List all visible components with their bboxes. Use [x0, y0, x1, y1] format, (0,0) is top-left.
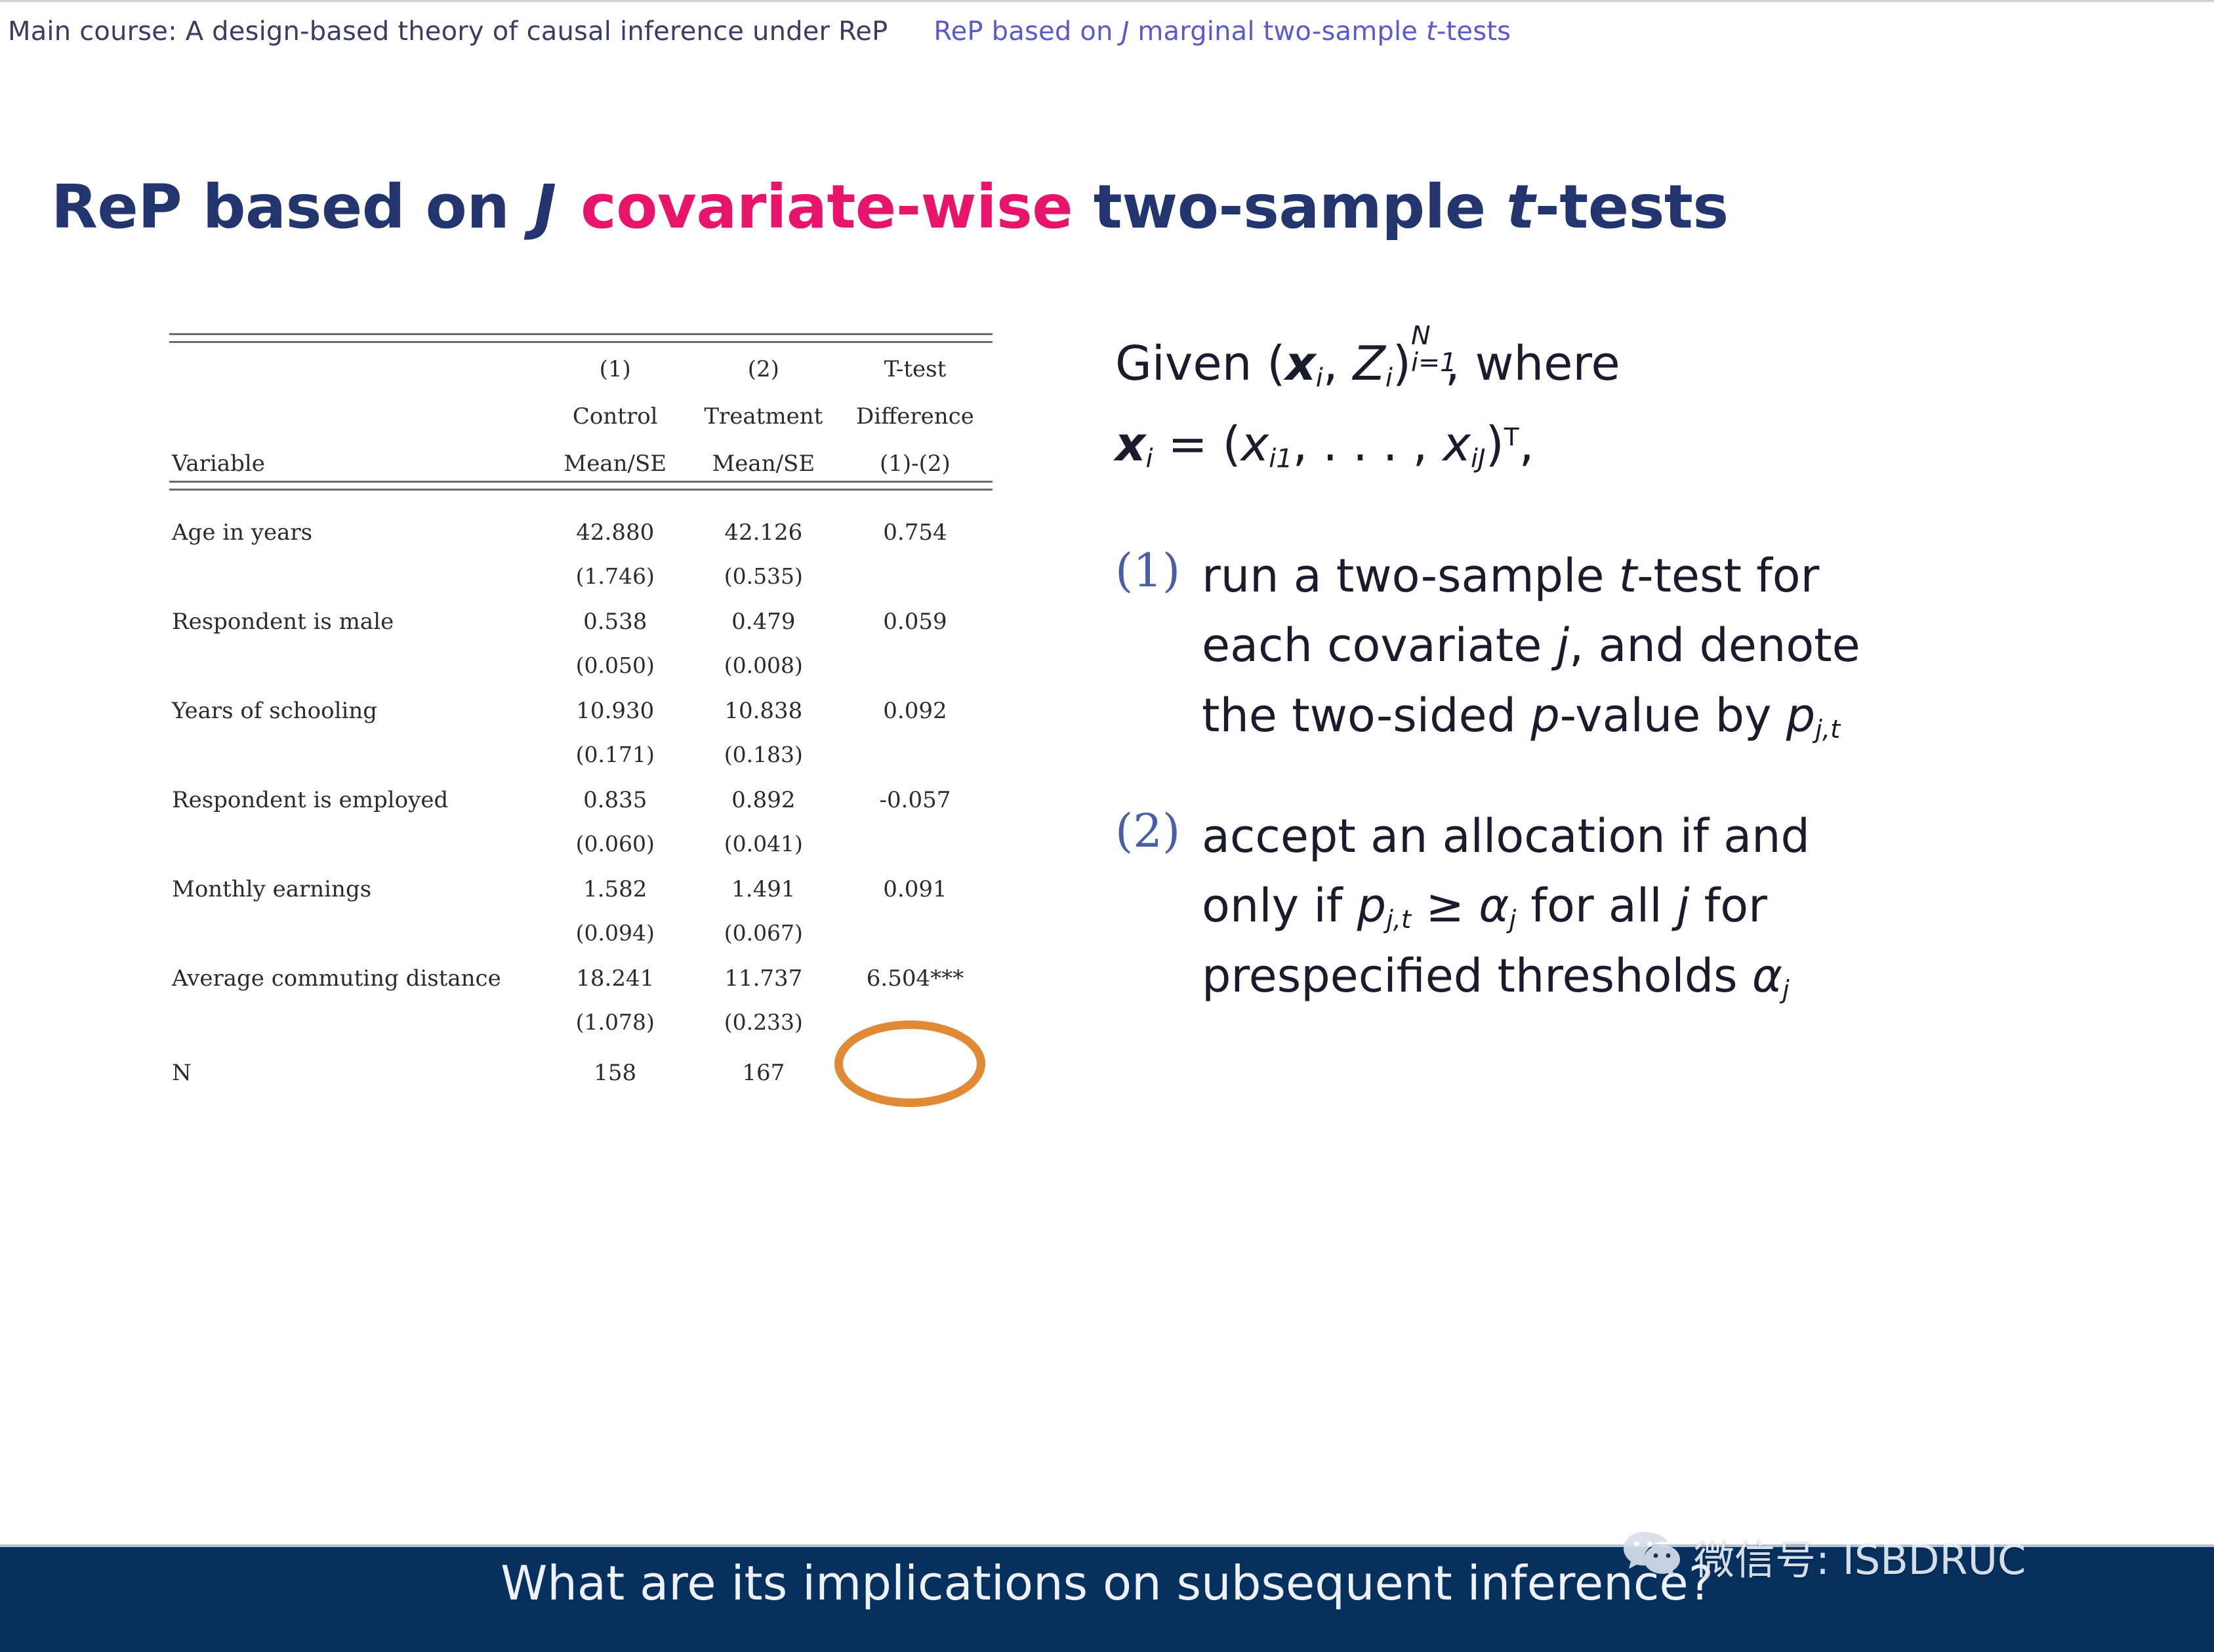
row-difference-se	[838, 546, 993, 589]
header-cell-col1: (1)	[541, 343, 689, 382]
row-control-se: (0.060)	[541, 813, 689, 856]
caption-text: What are its implications on subsequent …	[0, 1556, 2214, 1611]
table-row: Respondent is male0.5380.4790.059	[169, 589, 993, 635]
breadcrumb-navbar: Main course: A design-based theory of ca…	[0, 0, 2214, 60]
step1-l2-a: each covariate	[1202, 618, 1557, 672]
step-2-line-1: accept an allocation if and	[1202, 801, 1810, 871]
row-treatment-se: (0.183)	[689, 724, 838, 767]
breadcrumb-current-section[interactable]: ReP based on J marginal two-sample t-tes…	[933, 16, 1511, 47]
table-header-row-units: Variable Mean/SE Mean/SE (1)-(2)	[169, 430, 993, 477]
row-treatment-mean: 42.126	[689, 500, 838, 546]
xi-close-paren: )	[1486, 416, 1504, 472]
row-control-mean: 42.880	[541, 500, 689, 546]
row-difference-se	[838, 635, 993, 678]
row-se-blank	[169, 902, 541, 946]
table-top-rule	[169, 333, 993, 343]
header-group-blank	[169, 382, 541, 430]
row-difference-se	[838, 992, 993, 1035]
xi-vector-symbol: x	[1115, 416, 1145, 472]
step-1-line-2: each covariate j, and denote	[1202, 611, 1860, 680]
row-control-mean: 0.538	[541, 589, 689, 635]
header-unit-control: Mean/SE	[541, 430, 689, 477]
step2-alpha-symbol: α	[1479, 879, 1509, 933]
given-z-subscript: i	[1385, 363, 1393, 393]
row-n-treatment: 167	[689, 1035, 838, 1086]
table-row-se: (1.746)(0.535)	[169, 546, 993, 589]
table-row-se: (0.060)(0.041)	[169, 813, 993, 856]
page-title: ReP based on J covariate-wise two-sample…	[51, 172, 1729, 242]
row-se-blank	[169, 992, 541, 1035]
breadcrumb-sub-mid: marginal two-sample	[1138, 16, 1418, 47]
step1-t-symbol: t	[1619, 549, 1637, 603]
table-header-row-groups: Control Treatment Difference	[169, 382, 993, 430]
step1-pvalue-symbol: p	[1786, 689, 1815, 742]
step-2-line-3: prespecified thresholds αj	[1202, 941, 1810, 1011]
xi-vector-subscript: i	[1145, 444, 1153, 474]
xiJ-subscript: iJ	[1471, 444, 1486, 474]
step1-l1-a: run a two-sample	[1202, 549, 1619, 603]
given-formula-block: Given (xi, Zi)Ni=1, where xi = (xi1, . .…	[1115, 328, 2139, 481]
row-treatment-se: (0.535)	[689, 546, 838, 589]
step1-l1-b: -test for	[1637, 549, 1819, 603]
given-comma: ,	[1323, 336, 1353, 391]
step2-threshold-alpha: α	[1752, 949, 1782, 1003]
table-row-se: (0.171)(0.183)	[169, 724, 993, 767]
row-variable-name: Monthly earnings	[169, 856, 541, 902]
step2-threshold-alpha-subscript: j	[1782, 975, 1790, 1005]
title-part2: two-sample	[1094, 172, 1486, 242]
breadcrumb-sub-post: -tests	[1437, 16, 1511, 47]
balance-table-body: Age in years42.88042.1260.754(1.746)(0.5…	[169, 500, 993, 1086]
row-treatment-mean: 0.892	[689, 767, 838, 813]
row-difference-se	[838, 902, 993, 946]
row-control-se: (1.746)	[541, 546, 689, 589]
xi-tail-comma: ,	[1519, 416, 1534, 472]
title-part3: -tests	[1535, 172, 1729, 242]
row-difference: 0.754	[838, 500, 993, 546]
row-treatment-mean: 1.491	[689, 856, 838, 902]
table-header-row-numbers: (1) (2) T-test	[169, 343, 993, 382]
breadcrumb-main-course[interactable]: Main course: A design-based theory of ca…	[8, 16, 888, 47]
balance-table: (1) (2) T-test Control Treatment Differe…	[169, 333, 993, 1086]
row-variable-name: Age in years	[169, 500, 541, 546]
table-row-se: (0.050)(0.008)	[169, 635, 993, 678]
header-group-treatment: Treatment	[689, 382, 838, 430]
row-n-label: N	[169, 1035, 541, 1086]
row-se-blank	[169, 546, 541, 589]
row-treatment-mean: 10.838	[689, 678, 838, 724]
row-se-blank	[169, 813, 541, 856]
header-unit-difference: (1)-(2)	[838, 430, 993, 477]
row-variable-name: Average commuting distance	[169, 946, 541, 992]
row-variable-name: Years of schooling	[169, 678, 541, 724]
title-j-symbol: J	[530, 172, 560, 242]
given-lead: Given (	[1115, 336, 1285, 391]
xi-equals: = (	[1153, 416, 1240, 472]
row-difference: 0.092	[838, 678, 993, 724]
transpose-superscript: T	[1504, 422, 1519, 451]
xi1-subscript: i1	[1269, 444, 1292, 474]
row-se-blank	[169, 724, 541, 767]
given-tail: , where	[1445, 336, 1620, 391]
header-cell-ttest: T-test	[838, 343, 993, 382]
row-difference: 0.091	[838, 856, 993, 902]
step-2-line-2: only if pj,t ≥ αj for all j for	[1202, 871, 1810, 940]
given-close-paren: )	[1393, 336, 1411, 391]
step-1-body: run a two-sample t-test for each covaria…	[1202, 541, 1860, 750]
row-treatment-mean: 11.737	[689, 946, 838, 992]
step1-p-symbol: p	[1530, 689, 1559, 742]
row-difference: 6.504***	[838, 946, 993, 992]
breadcrumb-sub-j: J	[1121, 16, 1129, 47]
xi1-symbol: x	[1241, 416, 1269, 472]
row-control-mean: 18.241	[541, 946, 689, 992]
xi-ellipsis: , . . . ,	[1292, 416, 1443, 472]
row-difference: 0.059	[838, 589, 993, 635]
step-2-marker: (2)	[1115, 801, 1202, 1011]
step1-l2-b: , and denote	[1569, 618, 1860, 672]
given-formula-line2: xi = (xi1, . . . , xiJ)T,	[1115, 409, 2139, 480]
breadcrumb-sub-t: t	[1426, 16, 1437, 47]
row-n-control: 158	[541, 1035, 689, 1086]
given-z-symbol: Z	[1353, 336, 1385, 391]
row-control-mean: 1.582	[541, 856, 689, 902]
row-control-mean: 0.835	[541, 767, 689, 813]
step-2-body: accept an allocation if and only if pj,t…	[1202, 801, 1810, 1011]
step1-l3-b: -value by	[1560, 689, 1786, 742]
given-x-subscript: i	[1316, 363, 1323, 393]
given-subscript-i1: i=1	[1411, 343, 1456, 382]
row-control-se: (0.050)	[541, 635, 689, 678]
step2-alpha-subscript: j	[1509, 905, 1516, 935]
step2-ge-operator: ≥	[1411, 879, 1479, 933]
header-unit-treatment: Mean/SE	[689, 430, 838, 477]
step2-p-subscript: j,t	[1386, 905, 1411, 935]
table-row: Age in years42.88042.1260.754	[169, 500, 993, 546]
row-variable-name: Respondent is male	[169, 589, 541, 635]
table-row-se: (0.094)(0.067)	[169, 902, 993, 946]
row-n-difference	[838, 1035, 993, 1086]
step-1-line-3: the two-sided p-value by pj,t	[1202, 681, 1860, 750]
numbered-steps-list: (1) run a two-sample t-test for each cov…	[1115, 541, 2139, 1011]
row-difference-se	[838, 724, 993, 767]
row-treatment-se: (0.008)	[689, 635, 838, 678]
step2-j-symbol: j	[1677, 879, 1689, 933]
step2-l2-c: for	[1689, 879, 1767, 933]
step1-j-symbol: j	[1557, 618, 1569, 672]
breadcrumb-sub-pre: ReP based on	[933, 16, 1113, 47]
title-t-symbol: t	[1506, 172, 1534, 242]
step1-l3-a: the two-sided	[1202, 689, 1530, 742]
explanation-panel: Given (xi, Zi)Ni=1, where xi = (xi1, . .…	[1115, 328, 2139, 1062]
header-group-difference: Difference	[838, 382, 993, 430]
balance-table-grid: (1) (2) T-test Control Treatment Differe…	[169, 343, 993, 477]
header-cell-blank	[169, 343, 541, 382]
row-treatment-se: (0.041)	[689, 813, 838, 856]
row-treatment-se: (0.233)	[689, 992, 838, 1035]
step1-pvalue-subscript: j,t	[1815, 715, 1840, 744]
row-difference-se	[838, 813, 993, 856]
row-control-mean: 10.930	[541, 678, 689, 724]
step2-l2-a: only if	[1202, 879, 1357, 933]
given-limits: Ni=1	[1411, 332, 1445, 380]
row-se-blank	[169, 635, 541, 678]
step-1-marker: (1)	[1115, 541, 1202, 750]
row-control-se: (0.094)	[541, 902, 689, 946]
row-control-se: (1.078)	[541, 992, 689, 1035]
header-group-control: Control	[541, 382, 689, 430]
row-treatment-se: (0.067)	[689, 902, 838, 946]
row-difference: -0.057	[838, 767, 993, 813]
step-1-line-1: run a two-sample t-test for	[1202, 541, 1860, 611]
table-row: Monthly earnings1.5821.4910.091	[169, 856, 993, 902]
row-variable-name: Respondent is employed	[169, 767, 541, 813]
table-row: Average commuting distance18.24111.7376.…	[169, 946, 993, 992]
given-x-symbol: x	[1285, 336, 1315, 391]
table-row: Respondent is employed0.8350.892-0.057	[169, 767, 993, 813]
table-row: Years of schooling10.93010.8380.092	[169, 678, 993, 724]
row-treatment-mean: 0.479	[689, 589, 838, 635]
title-accent-phrase: covariate-wise	[581, 172, 1073, 242]
list-item-step-2: (2) accept an allocation if and only if …	[1115, 801, 2139, 1011]
step2-p-symbol: p	[1357, 879, 1386, 933]
header-cell-col2: (2)	[689, 343, 838, 382]
xiJ-symbol: x	[1443, 416, 1471, 472]
header-unit-variable: Variable	[169, 430, 541, 477]
step2-l3-a: prespecified thresholds	[1202, 949, 1752, 1003]
given-formula-line1: Given (xi, Zi)Ni=1, where	[1115, 328, 2139, 399]
table-row-se: (1.078)(0.233)	[169, 992, 993, 1035]
step2-l2-b: for all	[1516, 879, 1677, 933]
title-part1: ReP based on	[51, 172, 509, 242]
list-item-step-1: (1) run a two-sample t-test for each cov…	[1115, 541, 2139, 750]
row-control-se: (0.171)	[541, 724, 689, 767]
table-row-n: N158167	[169, 1035, 993, 1086]
table-header-rule	[169, 481, 993, 491]
